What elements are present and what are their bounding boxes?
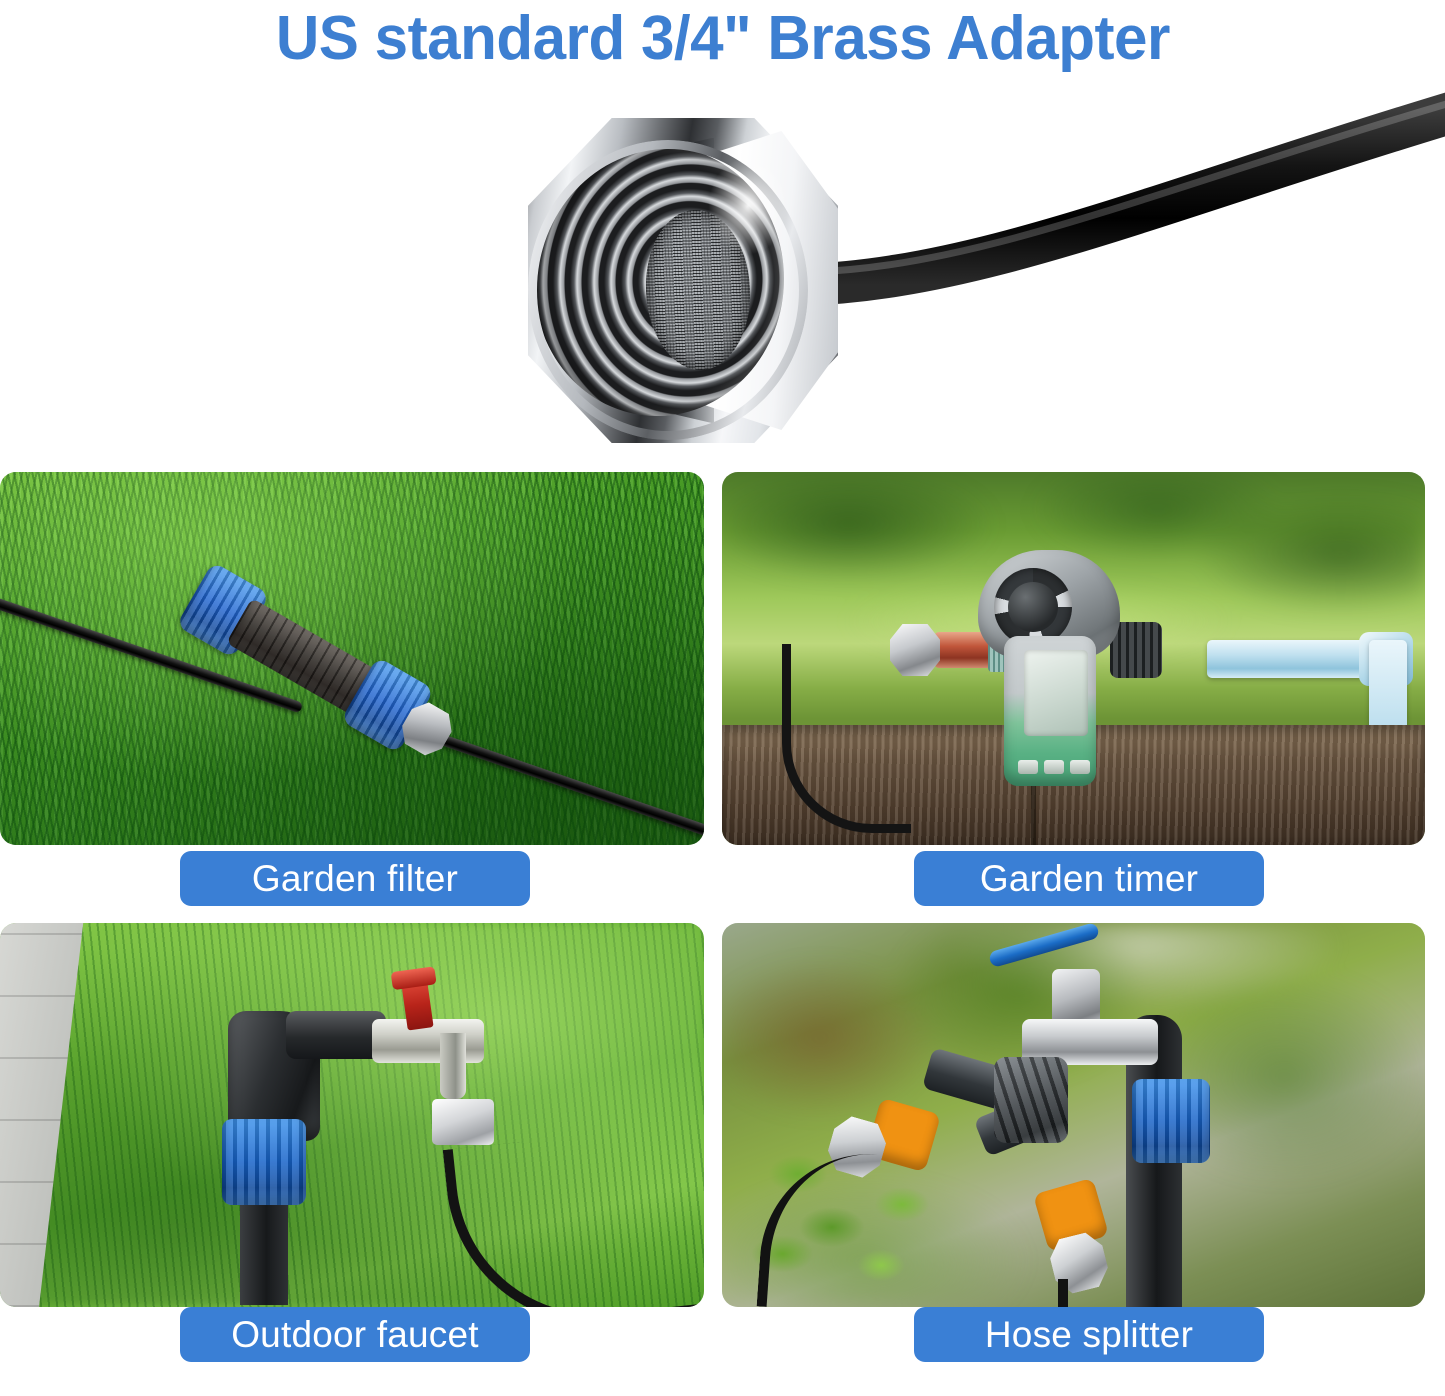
application-photo-grid: Garden filter Garden timer (0, 466, 1445, 1379)
black-elbow-arm (286, 1011, 386, 1059)
photo-panel-garden-filter[interactable] (0, 472, 704, 845)
splitter-hub (994, 1057, 1068, 1143)
timer-right-button (1070, 760, 1090, 774)
black-hose (1058, 1279, 1108, 1307)
scene-hose-splitter (722, 923, 1425, 1307)
blue-compression-fitting (222, 1119, 306, 1205)
photo-row-top (0, 466, 1445, 851)
timer-left-button (1018, 760, 1038, 774)
timer-knob (1008, 582, 1058, 632)
brass-adapter (432, 1099, 494, 1145)
badge-row-top: Garden filter Garden timer (0, 851, 1445, 923)
faucet-spout (440, 1033, 466, 1099)
timer-lcd-display (1024, 650, 1088, 736)
badge-outdoor-faucet: Outdoor faucet (180, 1307, 530, 1362)
adapter-hex-nut (890, 624, 940, 676)
scene-garden-timer (722, 472, 1425, 845)
badge-row-bottom: Outdoor faucet Hose splitter (0, 1307, 1445, 1379)
hero-product-image (0, 80, 1445, 462)
hex-adapter-nut (528, 118, 838, 443)
garden-water-timer (994, 550, 1104, 792)
y-splitter (918, 1041, 1098, 1171)
page-header: US standard 3/4" Brass Adapter (0, 0, 1445, 78)
badge-garden-timer-label: Garden timer (980, 858, 1198, 900)
timer-body (1004, 636, 1096, 786)
photo-panel-garden-timer[interactable] (722, 472, 1425, 845)
badge-outdoor-faucet-label: Outdoor faucet (231, 1314, 479, 1356)
blue-compression-fitting (1132, 1079, 1210, 1163)
scene-garden-filter (0, 472, 704, 845)
badge-hose-splitter-label: Hose splitter (985, 1314, 1193, 1356)
badge-hose-splitter: Hose splitter (914, 1307, 1264, 1362)
page-title: US standard 3/4" Brass Adapter (275, 8, 1169, 70)
photo-panel-outdoor-faucet[interactable] (0, 923, 704, 1307)
badge-garden-filter-label: Garden filter (252, 858, 458, 900)
scene-outdoor-faucet (0, 923, 704, 1307)
chrome-highlight (708, 157, 789, 255)
timer-center-button (1044, 760, 1064, 774)
badge-garden-timer: Garden timer (914, 851, 1264, 906)
badge-garden-filter: Garden filter (180, 851, 530, 906)
black-riser-pipe (240, 1195, 288, 1305)
timer-button-row (1018, 760, 1090, 774)
photo-row-bottom (0, 923, 1445, 1307)
photo-panel-hose-splitter[interactable] (722, 923, 1425, 1307)
